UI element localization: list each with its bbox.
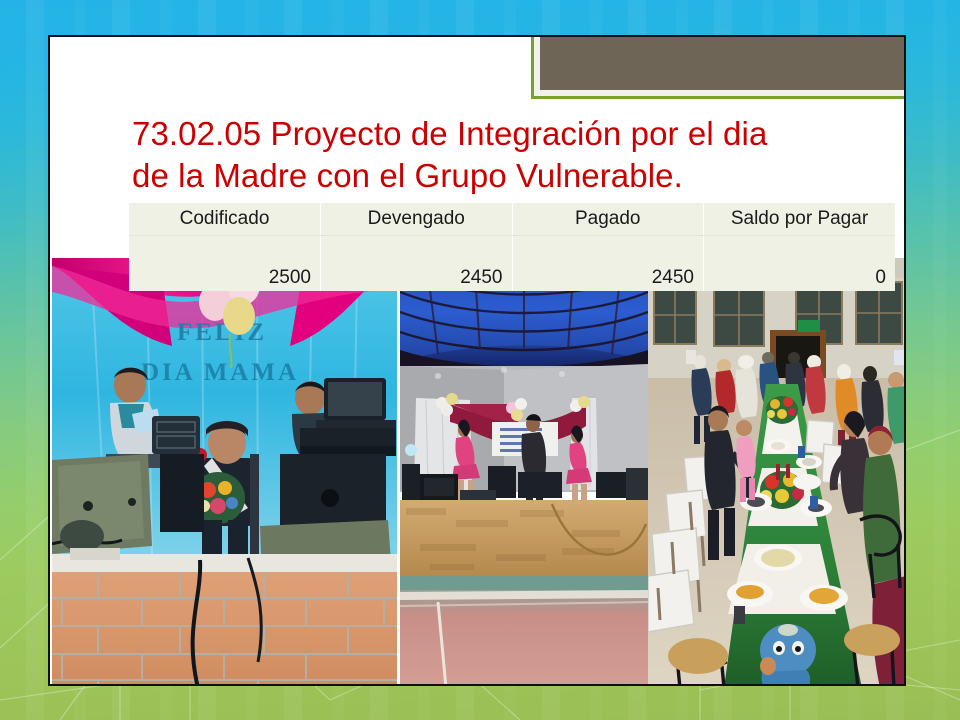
column-header-devengado: Devengado bbox=[321, 203, 513, 235]
photo-banquet-table bbox=[648, 258, 906, 686]
budget-table: Codificado Devengado Pagado Saldo por Pa… bbox=[129, 203, 895, 291]
slide-content-panel: FELIZ DIA MAMA bbox=[48, 35, 906, 686]
photo-hall-wide bbox=[400, 258, 648, 686]
column-header-codificado: Codificado bbox=[129, 203, 321, 235]
cell-devengado: 2450 bbox=[321, 235, 513, 291]
page-title: 73.02.05 Proyecto de Integración por el … bbox=[132, 113, 906, 196]
table-header-row: Codificado Devengado Pagado Saldo por Pa… bbox=[129, 203, 895, 235]
svg-text:DIA MAMA: DIA MAMA bbox=[141, 359, 299, 386]
photo-stage-ceremony: FELIZ DIA MAMA bbox=[52, 258, 397, 686]
redacted-placeholder-box bbox=[531, 35, 906, 99]
table-row: 2500 2450 2450 0 bbox=[129, 235, 895, 291]
cell-codificado: 2500 bbox=[129, 235, 321, 291]
cell-saldo-por-pagar: 0 bbox=[704, 235, 896, 291]
column-header-saldo-por-pagar: Saldo por Pagar bbox=[704, 203, 896, 235]
photo-strip: FELIZ DIA MAMA bbox=[50, 258, 906, 686]
cell-pagado: 2450 bbox=[512, 235, 704, 291]
redacted-placeholder-fill bbox=[540, 35, 906, 90]
column-header-pagado: Pagado bbox=[512, 203, 704, 235]
